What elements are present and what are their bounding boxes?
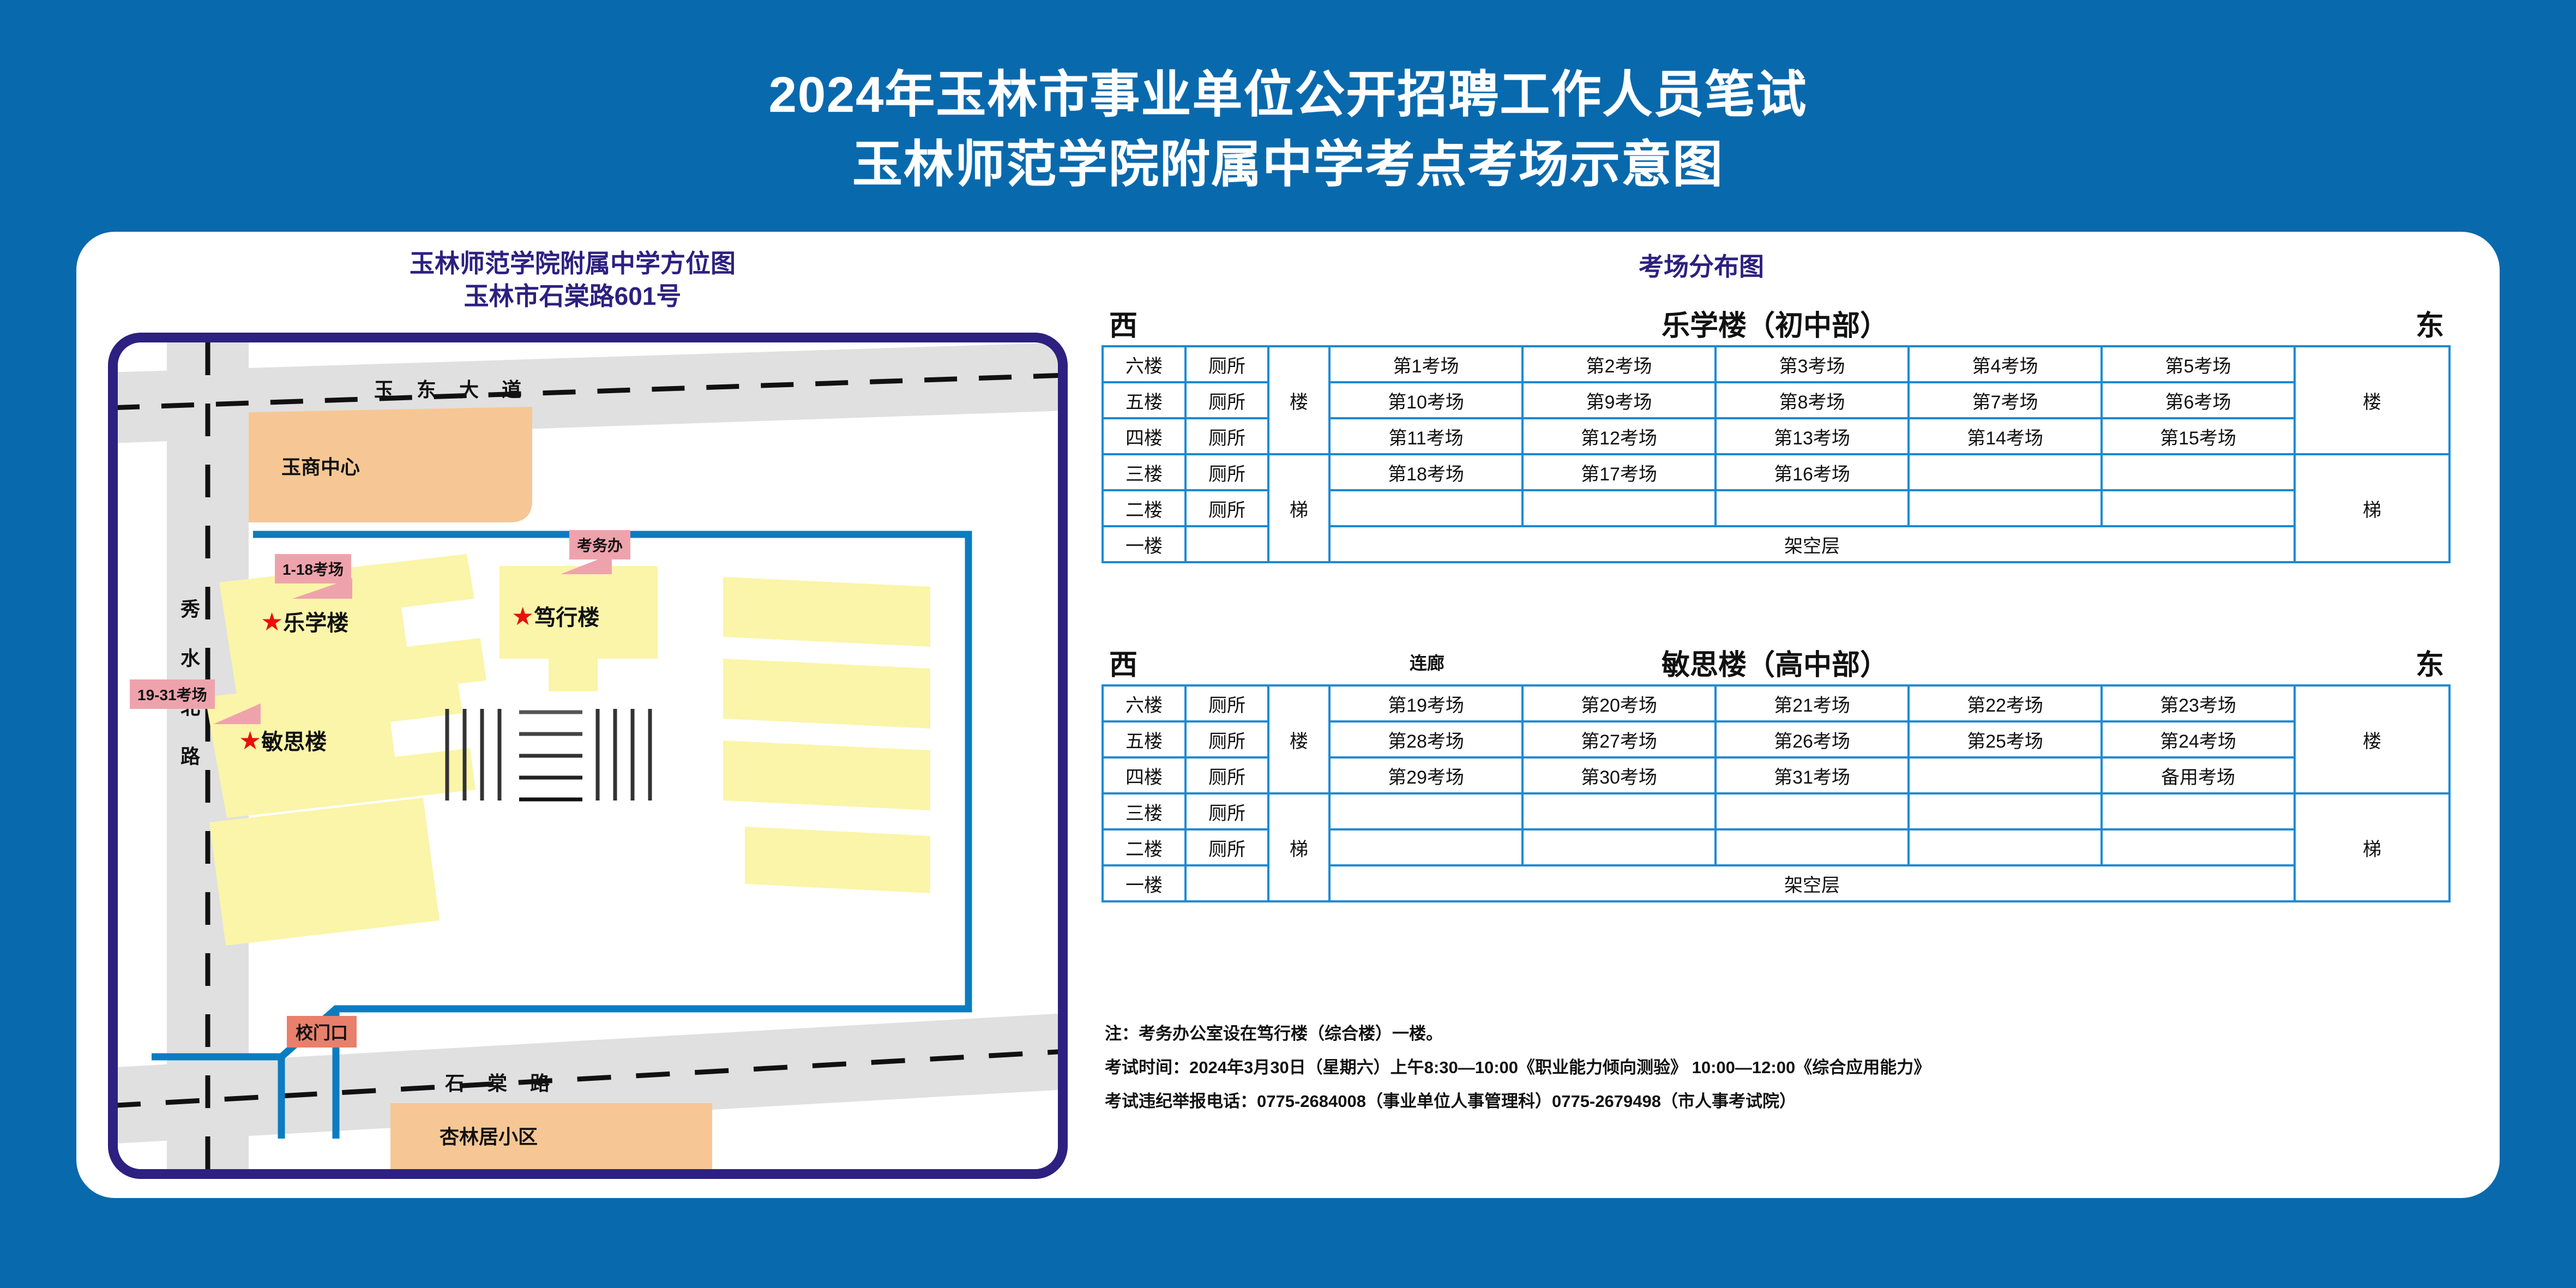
table-row: 六楼 厕所 楼 第19考场 第20考场 第21考场 第22考场 第23考场 楼 — [1103, 685, 2449, 721]
venue-block-name-minsi: 敏思楼（高中部） — [1102, 642, 2448, 683]
venue-table-minsi: 六楼 厕所 楼 第19考场 第20考场 第21考场 第22考场 第23考场 楼 … — [1102, 684, 2451, 902]
cell-room: 第27考场 — [1522, 721, 1716, 757]
notes-block: 注：考务办公室设在笃行楼（综合楼）一楼。 考试时间：2024年3月30日（星期六… — [1105, 1017, 2479, 1118]
cell-room: 第9考场 — [1522, 382, 1716, 418]
venue-block-name-lexue: 乐学楼（初中部） — [1102, 303, 2448, 344]
cell-wc: 厕所 — [1185, 454, 1268, 490]
cell-floor: 四楼 — [1103, 757, 1185, 793]
note-line-1: 注：考务办公室设在笃行楼（综合楼）一楼。 — [1105, 1017, 2479, 1051]
place-label-residential: 杏林居小区 — [440, 1121, 538, 1149]
cell-room — [1909, 454, 2102, 490]
note-line-2: 考试时间：2024年3月30日（星期六）上午8:30—10:00《职业能力倾向测… — [1105, 1051, 2479, 1085]
cell-room: 第30考场 — [1522, 757, 1716, 793]
cell-room — [1909, 757, 2102, 793]
map-panel: 玉林师范学院附属中学方位图 玉林市石棠路601号 — [76, 232, 1102, 1198]
building-name-lexue: 乐学楼 — [283, 611, 348, 635]
cell-stair-right-top: 楼 — [2295, 346, 2449, 454]
cell-room — [2102, 829, 2295, 865]
cell-span-label: 架空层 — [1329, 526, 2295, 562]
cell-room — [1716, 829, 1909, 865]
cell-floor: 六楼 — [1103, 685, 1185, 721]
map-heading-line-1: 玉林师范学院附属中学方位图 — [109, 247, 1036, 280]
cell-floor: 二楼 — [1103, 829, 1185, 865]
cell-floor: 六楼 — [1103, 346, 1185, 382]
road-label-shitang: 石 棠 路 — [445, 1068, 558, 1096]
cell-room: 第4考场 — [1909, 346, 2102, 382]
cell-room — [1522, 793, 1716, 829]
cell-room: 第20考场 — [1522, 685, 1716, 721]
cell-room — [1329, 793, 1522, 829]
cell-stair-right-bottom: 梯 — [2295, 454, 2449, 562]
content-card: 玉林师范学院附属中学方位图 玉林市石棠路601号 — [76, 232, 2500, 1198]
cell-room: 第28考场 — [1329, 721, 1522, 757]
building-shapes-right — [723, 577, 930, 893]
building-name-duxing: 笃行楼 — [534, 606, 599, 630]
venue-table-lexue: 六楼 厕所 楼 第1考场 第2考场 第3考场 第4考场 第5考场 楼 五楼 厕所… — [1102, 345, 2451, 563]
cell-room — [1909, 490, 2102, 526]
star-icon-minsi: ★ — [239, 726, 261, 755]
star-icon-lexue: ★ — [261, 607, 283, 636]
cell-room: 第26考场 — [1716, 721, 1909, 757]
building-label-duxing: ★笃行楼 — [511, 600, 599, 631]
cell-room: 第10考场 — [1329, 382, 1522, 418]
cell-floor: 三楼 — [1103, 793, 1185, 829]
cell-room: 第14考场 — [1909, 418, 2102, 454]
cell-floor: 一楼 — [1103, 526, 1185, 562]
place-label-gate: 校门口 — [287, 1016, 357, 1048]
cell-room — [1522, 490, 1716, 526]
cell-stair-left-top: 楼 — [1268, 685, 1329, 793]
map-heading-line-2: 玉林市石棠路601号 — [109, 280, 1036, 312]
map-graphics — [118, 342, 1059, 1170]
cell-room: 第3考场 — [1716, 346, 1909, 382]
cell-floor: 三楼 — [1103, 454, 1185, 490]
cell-room: 第29考场 — [1329, 757, 1522, 793]
cell-room: 第6考场 — [2102, 382, 2295, 418]
cell-wc: 厕所 — [1185, 490, 1268, 526]
cell-floor: 五楼 — [1103, 382, 1185, 418]
cell-wc: 厕所 — [1185, 793, 1268, 829]
star-icon-duxing: ★ — [511, 602, 534, 630]
venue-block-header-minsi: 西 连廊 敏思楼（高中部） 东 — [1102, 642, 2448, 684]
block-shape-residential — [390, 1103, 712, 1170]
cell-wc: 厕所 — [1185, 685, 1268, 721]
cell-room: 第25考场 — [1909, 721, 2102, 757]
cell-room: 第21考场 — [1716, 685, 1909, 721]
cell-room — [1716, 490, 1909, 526]
cell-wc: 厕所 — [1185, 829, 1268, 865]
table-row: 三楼 厕所 梯 第18考场 第17考场 第16考场 梯 — [1103, 454, 2449, 490]
page-title: 2024年玉林市事业单位公开招聘工作人员笔试 玉林师范学院附属中学考点考场示意图 — [0, 60, 2576, 200]
venue-block-minsi: 西 连廊 敏思楼（高中部） 东 六楼 厕所 楼 第19考场 — [1102, 642, 2448, 902]
cell-wc — [1185, 526, 1268, 562]
direction-east-2: 东 — [2416, 642, 2444, 683]
cell-room: 第1考场 — [1329, 346, 1522, 382]
cell-room: 第31考场 — [1716, 757, 1909, 793]
cell-room — [1329, 829, 1522, 865]
cell-room: 第7考场 — [1909, 382, 2102, 418]
cell-stair-right-top: 楼 — [2295, 685, 2449, 793]
cell-room: 第5考场 — [2102, 346, 2295, 382]
map-heading: 玉林师范学院附属中学方位图 玉林市石棠路601号 — [109, 247, 1036, 312]
cell-room — [1909, 793, 2102, 829]
cell-room — [2102, 454, 2295, 490]
cell-room — [2102, 490, 2295, 526]
cell-room: 第12考场 — [1522, 418, 1716, 454]
tables-title: 考场分布图 — [1102, 247, 2301, 283]
cell-room — [1716, 793, 1909, 829]
cell-room: 第15考场 — [2102, 418, 2295, 454]
cell-room: 第23考场 — [2102, 685, 2295, 721]
cell-room: 第18考场 — [1329, 454, 1522, 490]
cell-stair-right-bottom: 梯 — [2295, 793, 2449, 901]
cell-room: 备用考场 — [2102, 757, 2295, 793]
cell-span-label: 架空层 — [1329, 865, 2295, 901]
cell-wc: 厕所 — [1185, 382, 1268, 418]
venue-block-header-lexue: 西 乐学楼（初中部） 东 — [1102, 303, 2448, 345]
cell-room: 第16考场 — [1716, 454, 1909, 490]
cell-room: 第22考场 — [1909, 685, 2102, 721]
cell-room: 第17考场 — [1522, 454, 1716, 490]
cell-floor: 五楼 — [1103, 721, 1185, 757]
cell-room: 第24考场 — [2102, 721, 2295, 757]
cell-wc: 厕所 — [1185, 418, 1268, 454]
venue-block-lexue: 西 乐学楼（初中部） 东 六楼 厕所 楼 第1考场 第2考场 — [1102, 303, 2448, 563]
cell-floor: 一楼 — [1103, 865, 1185, 901]
cell-wc: 厕所 — [1185, 757, 1268, 793]
cell-room — [2102, 793, 2295, 829]
title-line-1: 2024年玉林市事业单位公开招聘工作人员笔试 — [0, 60, 2576, 130]
place-label-mall: 玉商中心 — [281, 452, 360, 480]
cell-floor: 四楼 — [1103, 418, 1185, 454]
cell-stair-left-top: 楼 — [1268, 346, 1329, 454]
cell-stair-left-bottom: 梯 — [1268, 454, 1329, 562]
table-row: 六楼 厕所 楼 第1考场 第2考场 第3考场 第4考场 第5考场 楼 — [1103, 346, 2449, 382]
callout-lexue: 1-18考场 — [275, 554, 351, 583]
cell-room: 第19考场 — [1329, 685, 1522, 721]
cell-room: 第13考场 — [1716, 418, 1909, 454]
direction-east-1: 东 — [2416, 303, 2444, 344]
cell-room — [1909, 829, 2102, 865]
road-label-yudong: 玉 东 大 道 — [374, 374, 530, 402]
note-line-3: 考试违纪举报电话：0775-2684008（事业单位人事管理科）0775-267… — [1105, 1085, 2479, 1118]
cell-wc: 厕所 — [1185, 721, 1268, 757]
cell-room: 第2考场 — [1522, 346, 1716, 382]
cell-stair-left-bottom: 梯 — [1268, 793, 1329, 901]
building-name-minsi: 敏思楼 — [261, 730, 327, 754]
table-row: 三楼 厕所 梯 梯 — [1103, 793, 2449, 829]
callout-minsi: 19-31考场 — [130, 679, 215, 709]
cell-wc: 厕所 — [1185, 346, 1268, 382]
tables-panel: 考场分布图 西 乐学楼（初中部） 东 六楼 厕所 楼 — [1102, 232, 2500, 1198]
cell-floor: 二楼 — [1103, 490, 1185, 526]
building-label-minsi: ★敏思楼 — [239, 724, 327, 756]
callout-duxing: 考务办 — [569, 530, 630, 559]
cell-room: 第8考场 — [1716, 382, 1909, 418]
playground-lines — [447, 709, 650, 801]
map-frame: 玉 东 大 道 秀 水 北 路 石 棠 路 玉商中心 杏林居小区 校门口 ★乐学… — [108, 333, 1068, 1179]
cell-room — [1522, 829, 1716, 865]
cell-room — [1329, 490, 1522, 526]
building-label-lexue: ★乐学楼 — [261, 605, 348, 637]
cell-wc — [1185, 865, 1268, 901]
title-line-2: 玉林师范学院附属中学考点考场示意图 — [0, 130, 2576, 200]
cell-room: 第11考场 — [1329, 418, 1522, 454]
